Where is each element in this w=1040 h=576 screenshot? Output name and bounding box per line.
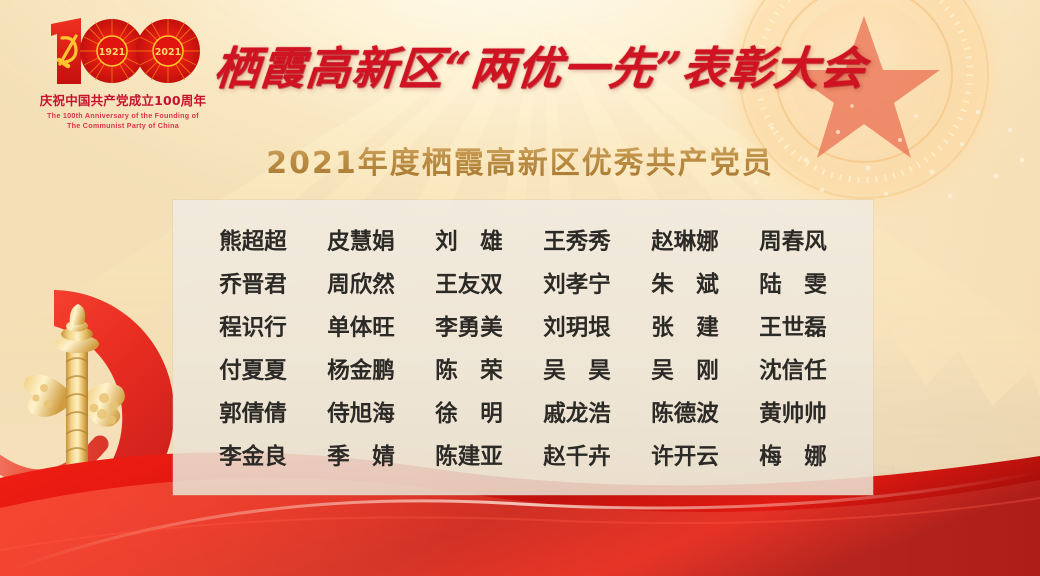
name-cell: 单体旺 <box>307 310 415 342</box>
name-cell: 侍旭海 <box>307 396 415 428</box>
name-cell: 吴 昊 <box>523 353 631 385</box>
name-cell: 黄帅帅 <box>739 396 847 428</box>
name-cell: 刘孝宁 <box>523 267 631 299</box>
cpc-100-anniversary-logo: 1921 2021 庆祝中国共产党成立100周年 The 100th Anniv… <box>28 14 218 136</box>
name-cell: 戚龙浩 <box>523 396 631 428</box>
cpc-100-emblem-icon: 1921 2021 <box>35 14 211 88</box>
name-cell: 陈德波 <box>631 396 739 428</box>
name-row: 程识行 单体旺 李勇美 刘玥垠 张 建 王世磊 <box>199 304 847 347</box>
poster-stage: 1921 2021 庆祝中国共产党成立100周年 The 100th Anniv… <box>0 0 1040 576</box>
logo-chinese-caption: 庆祝中国共产党成立100周年 <box>40 90 206 109</box>
name-row: 郭倩倩 侍旭海 徐 明 戚龙浩 陈德波 黄帅帅 <box>199 390 847 433</box>
name-cell: 季 婧 <box>307 439 415 471</box>
name-cell: 王世磊 <box>739 310 847 342</box>
name-cell: 乔晋君 <box>199 267 307 299</box>
name-cell: 吴 刚 <box>631 353 739 385</box>
name-cell: 朱 斌 <box>631 267 739 299</box>
name-cell: 李金良 <box>199 439 307 471</box>
logo-english-line-2: The Communist Party of China <box>47 121 199 131</box>
name-cell: 周欣然 <box>307 267 415 299</box>
name-cell: 皮慧娟 <box>307 224 415 256</box>
name-cell: 陈建亚 <box>415 439 523 471</box>
name-cell: 赵千卉 <box>523 439 631 471</box>
name-cell: 徐 明 <box>415 396 523 428</box>
name-cell: 付夏夏 <box>199 353 307 385</box>
name-cell: 刘 雄 <box>415 224 523 256</box>
name-cell: 杨金鹏 <box>307 353 415 385</box>
name-row: 付夏夏 杨金鹏 陈 荣 吴 昊 吴 刚 沈信任 <box>199 347 847 390</box>
name-cell: 熊超超 <box>199 224 307 256</box>
name-cell: 刘玥垠 <box>523 310 631 342</box>
name-cell: 程识行 <box>199 310 307 342</box>
name-cell: 许开云 <box>631 439 739 471</box>
name-cell: 张 建 <box>631 310 739 342</box>
name-cell: 周春风 <box>739 224 847 256</box>
name-cell: 王友双 <box>415 267 523 299</box>
name-cell: 赵琳娜 <box>631 224 739 256</box>
name-row: 乔晋君 周欣然 王友双 刘孝宁 朱 斌 陆 雯 <box>199 261 847 304</box>
logo-english-caption: The 100th Anniversary of the Founding of… <box>47 111 199 132</box>
svg-text:2021: 2021 <box>155 47 181 58</box>
name-row: 熊超超 皮慧娟 刘 雄 王秀秀 赵琳娜 周春风 <box>199 218 847 261</box>
name-cell: 陆 雯 <box>739 267 847 299</box>
name-cell: 郭倩倩 <box>199 396 307 428</box>
name-cell: 陈 荣 <box>415 353 523 385</box>
name-cell: 沈信任 <box>739 353 847 385</box>
main-title: 栖霞高新区“两优一先”表彰大会 <box>211 36 889 102</box>
logo-english-line-1: The 100th Anniversary of the Founding of <box>47 111 199 121</box>
name-cell: 王秀秀 <box>523 224 631 256</box>
svg-text:1921: 1921 <box>99 47 125 58</box>
honoree-name-panel: 熊超超 皮慧娟 刘 雄 王秀秀 赵琳娜 周春风 乔晋君 周欣然 王友双 刘孝宁 … <box>173 200 873 495</box>
name-row: 李金良 季 婧 陈建亚 赵千卉 许开云 梅 娜 <box>199 433 847 476</box>
sub-title: 2021年度栖霞高新区优秀共产党员 <box>0 138 1040 182</box>
name-cell: 梅 娜 <box>739 439 847 471</box>
name-cell: 李勇美 <box>415 310 523 342</box>
